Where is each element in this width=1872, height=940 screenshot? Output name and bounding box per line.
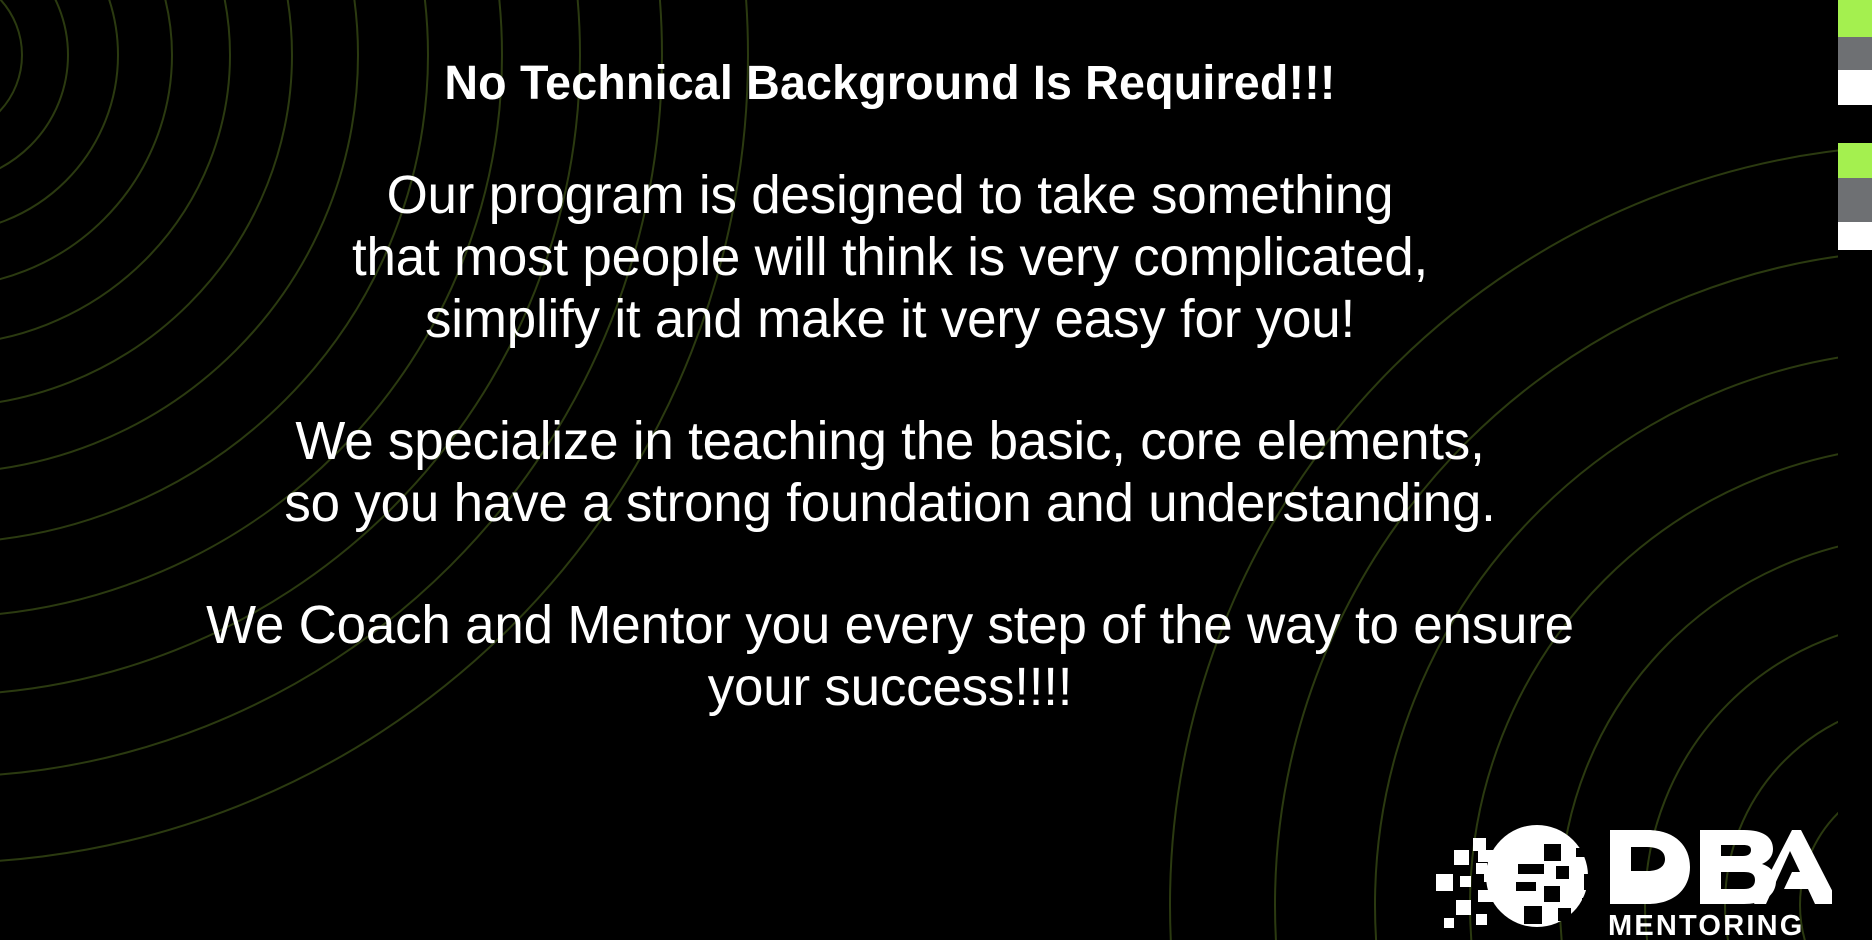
page-title: No Technical Background Is Required!!! <box>27 58 1754 111</box>
body-paragraph-3: We Coach and Mentor you every step of th… <box>18 594 1762 718</box>
svg-text:MENTORING: MENTORING <box>1608 910 1805 940</box>
logo-primary-text <box>1610 830 1832 904</box>
dba-mentoring-logo: MENTORING <box>1432 814 1832 940</box>
color-strip-segment-0 <box>1838 0 1872 37</box>
slide-canvas: No Technical Background Is Required!!! O… <box>0 0 1872 940</box>
color-strip-segment-4 <box>1838 143 1872 178</box>
body-paragraph-1: Our program is designed to take somethin… <box>18 164 1762 350</box>
color-strip-segment-3 <box>1838 105 1872 143</box>
color-strip-segment-7 <box>1838 250 1872 940</box>
color-strip-segment-6 <box>1838 222 1872 250</box>
slide-content: No Technical Background Is Required!!! O… <box>0 0 1820 940</box>
color-strip-segment-2 <box>1838 70 1872 105</box>
color-strip-segment-5 <box>1838 178 1872 222</box>
body-paragraph-2: We specialize in teaching the basic, cor… <box>18 410 1762 534</box>
color-strip-segment-1 <box>1838 37 1872 70</box>
logo-secondary-text: MENTORING <box>1608 910 1805 940</box>
right-edge-color-strip <box>1838 0 1872 940</box>
